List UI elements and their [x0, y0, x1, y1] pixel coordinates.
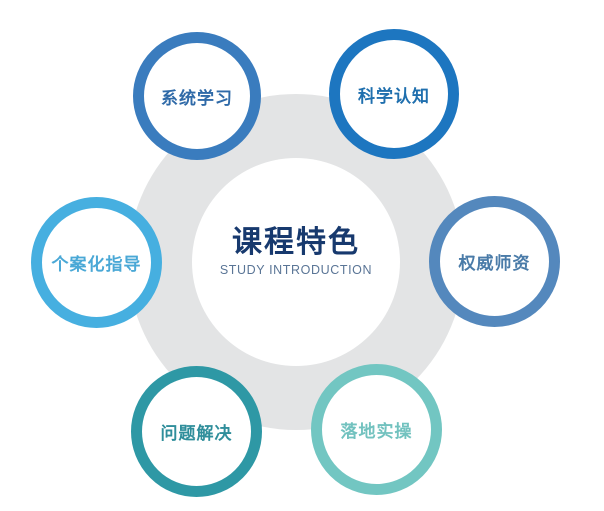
page-title: 课程特色: [176, 226, 416, 260]
feature-node-label: 个案化指导: [52, 250, 142, 275]
feature-node-label: 权威师资: [459, 249, 531, 274]
feature-node-label: 问题解决: [161, 419, 233, 444]
infographic-canvas: 课程特色 STUDY INTRODUCTION 系统学习科学认知个案化指导权威师…: [0, 0, 604, 511]
feature-node-label: 落地实操: [341, 417, 413, 442]
feature-node-practical-implementation[interactable]: 落地实操: [311, 364, 442, 495]
feature-node-scientific-cognition[interactable]: 科学认知: [329, 29, 459, 159]
page-subtitle: STUDY INTRODUCTION: [176, 263, 416, 277]
feature-node-label: 科学认知: [358, 82, 430, 107]
feature-node-systematic-learning[interactable]: 系统学习: [133, 32, 261, 160]
feature-node-problem-solving[interactable]: 问题解决: [131, 366, 262, 497]
feature-node-authoritative-faculty[interactable]: 权威师资: [429, 196, 560, 327]
feature-node-label: 系统学习: [161, 84, 233, 109]
feature-node-individual-guidance[interactable]: 个案化指导: [31, 197, 162, 328]
center-heading-block: 课程特色 STUDY INTRODUCTION: [176, 226, 416, 277]
